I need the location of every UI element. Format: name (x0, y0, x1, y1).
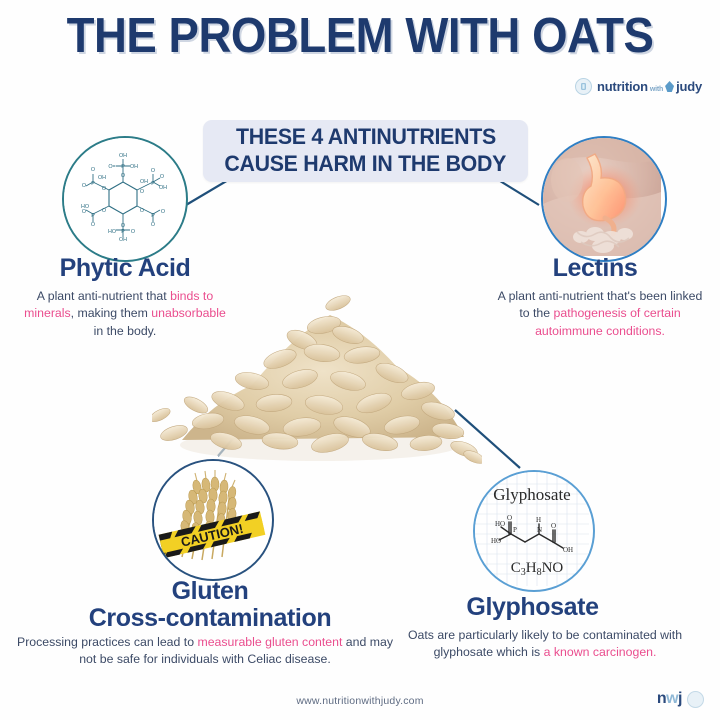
svg-text:O: O (91, 167, 95, 173)
body-highlight: a known carcinogen. (544, 645, 657, 659)
body-highlight: pathogenesis of certain autoimmune condi… (535, 306, 681, 337)
svg-text:OH: OH (119, 237, 127, 243)
svg-text:OH: OH (159, 185, 167, 191)
body-highlight: measurable gluten content (197, 635, 342, 649)
brand-logo: nutritionwithjudy (575, 78, 702, 95)
svg-text:HO: HO (491, 537, 501, 545)
svg-text:OH: OH (130, 164, 138, 170)
brand-suffix: judy (676, 79, 702, 94)
leaf-icon (665, 81, 674, 92)
phytic-acid-molecule-icon: OH O=POH O OOPOHOH O OOPO OHOPOOH OOPOHO… (62, 136, 188, 262)
svg-text:H: H (536, 516, 541, 524)
section-title-gluten-line1: Gluten (60, 578, 360, 605)
infographic-canvas: THE PROBLEM WITH OATS nutritionwithjudy … (0, 0, 720, 720)
svg-text:HO: HO (495, 520, 505, 528)
inflamed-stomach-image (541, 136, 667, 262)
svg-text:P: P (151, 213, 155, 219)
footer-logo-text: nwj (657, 690, 682, 708)
svg-text:O: O (131, 229, 135, 235)
footer-logo-n: n (657, 690, 666, 707)
section-body-glyphosate: Oats are particularly likely to be conta… (395, 627, 695, 662)
section-body-gluten: Processing practices can lead to measura… (15, 634, 395, 669)
body-part: , making them (71, 306, 152, 320)
brand-connector: with (650, 86, 663, 93)
svg-text:O=: O= (108, 164, 115, 170)
brand-name: nutrition (597, 79, 648, 94)
section-title-phytic-acid: Phytic Acid (0, 255, 250, 282)
svg-text:O: O (551, 522, 556, 530)
svg-text:P: P (513, 526, 517, 534)
section-title-glyphosate: Glyphosate (410, 594, 655, 621)
banner-line-2: CAUSE HARM IN THE BODY (225, 151, 507, 178)
svg-text:OH: OH (563, 546, 573, 554)
footer-logo-j: j (678, 690, 682, 707)
svg-text:OH: OH (119, 153, 127, 159)
footer-brand: nwj (657, 690, 704, 708)
svg-text:O: O (507, 514, 512, 522)
glyphosate-formula-icon: Glyphosate O HO HO H O OH (473, 470, 595, 592)
svg-text:P: P (91, 181, 95, 187)
body-highlight: unabsorbable (151, 306, 226, 320)
svg-text:HO: HO (108, 229, 116, 235)
page-title: THE PROBLEM WITH OATS (25, 8, 695, 64)
section-title-lectins: Lectins (470, 255, 720, 282)
svg-text:O: O (160, 174, 164, 180)
wheat-caution-tape-image: CAUTION! (152, 459, 274, 581)
section-body-phytic-acid: A plant anti-nutrient that binds to mine… (20, 288, 230, 340)
svg-text:HO: HO (81, 204, 89, 210)
svg-text:O: O (82, 183, 86, 189)
glyphosate-sketch-label: Glyphosate (493, 485, 570, 504)
svg-text:O: O (91, 222, 95, 228)
svg-text:O: O (121, 173, 125, 179)
svg-text:P: P (121, 164, 125, 170)
body-part: in the body. (94, 324, 157, 338)
banner-line-1: THESE 4 ANTINUTRIENTS (236, 124, 496, 151)
section-title-gluten-line2: Cross-contamination (60, 605, 360, 632)
footer-url[interactable]: www.nutritionwithjudy.com (0, 695, 720, 707)
svg-text:OH: OH (140, 179, 148, 185)
body-part: Processing practices can lead to (17, 635, 197, 649)
svg-text:O: O (140, 189, 144, 195)
svg-text:O: O (151, 222, 155, 228)
svg-text:OH: OH (98, 175, 106, 181)
svg-text:N: N (537, 526, 542, 534)
body-part: A plant anti-nutrient that (37, 289, 170, 303)
footer-logo-w: w (666, 690, 678, 707)
svg-text:O: O (102, 186, 106, 192)
svg-text:O: O (151, 168, 155, 174)
brand-text: nutritionwithjudy (597, 79, 702, 94)
svg-text:O: O (140, 208, 144, 214)
section-title-gluten: Gluten Cross-contamination (60, 578, 360, 632)
svg-text:P: P (121, 229, 125, 235)
section-body-lectins: A plant anti-nutrient that's been linked… (492, 288, 708, 340)
svg-text:O: O (161, 209, 165, 215)
svg-text:P: P (91, 213, 95, 219)
nwj-circle-icon (575, 78, 592, 95)
nwj-circle-icon (687, 691, 704, 708)
svg-text:O: O (102, 208, 106, 214)
svg-text:P: P (151, 181, 155, 187)
banner: THESE 4 ANTINUTRIENTS CAUSE HARM IN THE … (203, 120, 528, 182)
